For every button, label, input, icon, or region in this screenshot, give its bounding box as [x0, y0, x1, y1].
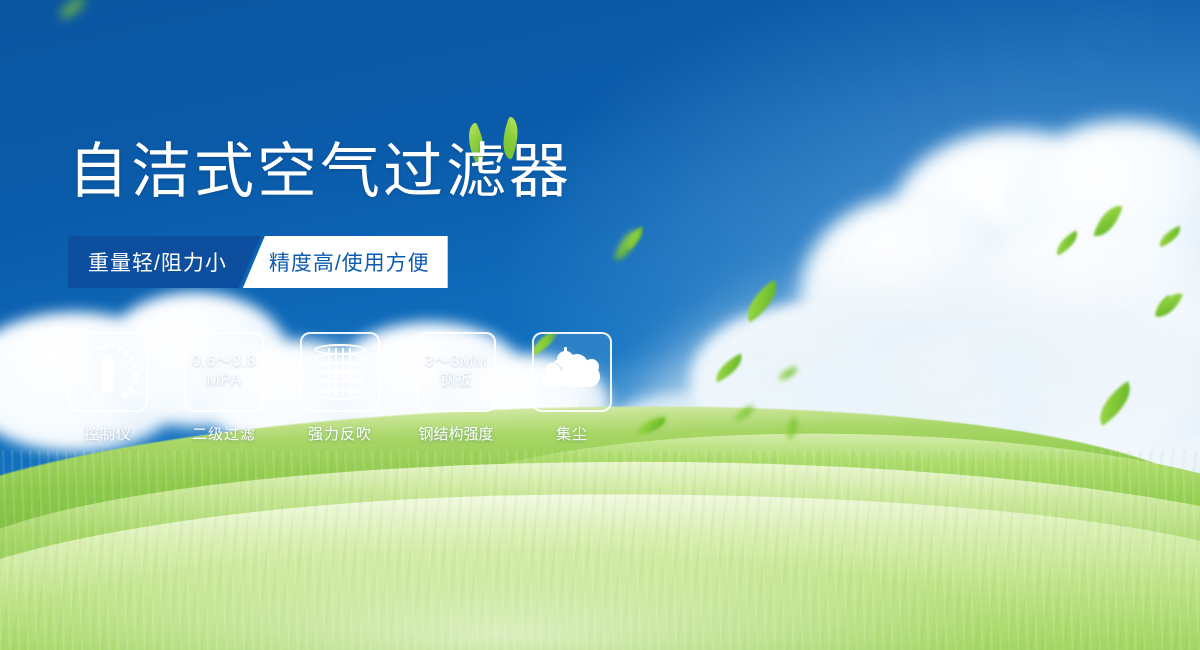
product-banner: 自洁式空气过滤器 重量轻/阻力小 精度高/使用方便 — [0, 0, 1200, 650]
feature-item-control[interactable]: NO OFF 控制仪 — [68, 332, 148, 444]
grass-highlight — [0, 500, 1200, 650]
pressure-range: 0.6～0.8 — [192, 353, 256, 372]
feature-label: 强力反吹 — [308, 423, 372, 444]
steel-thickness: 3～8MM — [425, 353, 488, 372]
air-cloud-icon: Air — [542, 351, 602, 393]
feature-label: 二级过滤 — [192, 423, 256, 444]
feature-tile: NO OFF — [68, 332, 148, 412]
feature-label: 集尘 — [556, 423, 588, 444]
air-label: Air — [542, 396, 602, 410]
subtitle-right: 精度高/使用方便 — [243, 236, 448, 288]
feature-item-backflush[interactable]: 强力反吹 — [300, 332, 380, 444]
subtitle-bar: 重量轻/阻力小 精度高/使用方便 — [68, 236, 462, 288]
feature-tile — [300, 332, 380, 412]
grass-field — [0, 430, 1200, 650]
feature-item-steel[interactable]: 3～8MM 钢板 钢结构强度 — [416, 332, 496, 444]
subtitle-left: 重量轻/阻力小 — [68, 236, 261, 288]
feature-list: NO OFF 控制仪 0.6～0.8 MPA 二级过滤 — [68, 332, 612, 444]
feature-item-pressure[interactable]: 0.6～0.8 MPA 二级过滤 — [184, 332, 264, 444]
feature-item-dust[interactable]: Air 集尘 — [532, 332, 612, 444]
control-gauge-icon: NO OFF — [77, 343, 139, 401]
page-title: 自洁式空气过滤器 — [68, 142, 572, 202]
feature-label: 控制仪 — [84, 423, 132, 444]
gauge-no-label: NO — [76, 369, 88, 376]
feature-label: 钢结构强度 — [418, 423, 493, 444]
feature-tile: Air — [532, 332, 612, 412]
gauge-off-label: OFF — [126, 390, 142, 397]
pressure-unit: MPA — [192, 372, 256, 391]
filter-stack-icon — [314, 344, 366, 400]
steel-material: 钢板 — [425, 372, 488, 391]
feature-tile: 0.6～0.8 MPA — [184, 332, 264, 412]
feature-tile: 3～8MM 钢板 — [416, 332, 496, 412]
